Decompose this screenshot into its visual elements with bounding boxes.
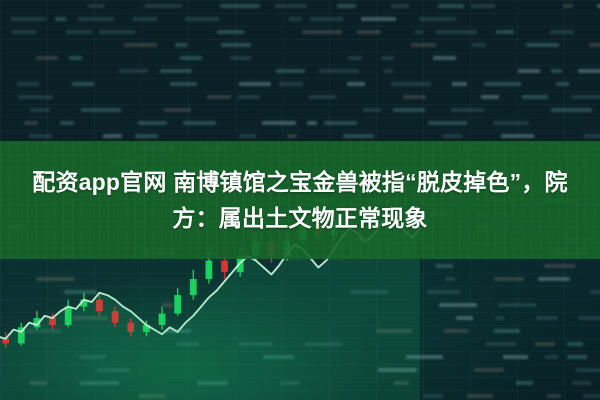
headline-band: 配资app官网 南博镇馆之宝金兽被指“脱皮掉色”，院方：属出土文物正常现象 xyxy=(0,141,600,259)
news-banner-image: 配资app官网 南博镇馆之宝金兽被指“脱皮掉色”，院方：属出土文物正常现象 xyxy=(0,0,600,400)
page-title: 配资app官网 南博镇馆之宝金兽被指“脱皮掉色”，院方：属出土文物正常现象 xyxy=(14,164,586,236)
